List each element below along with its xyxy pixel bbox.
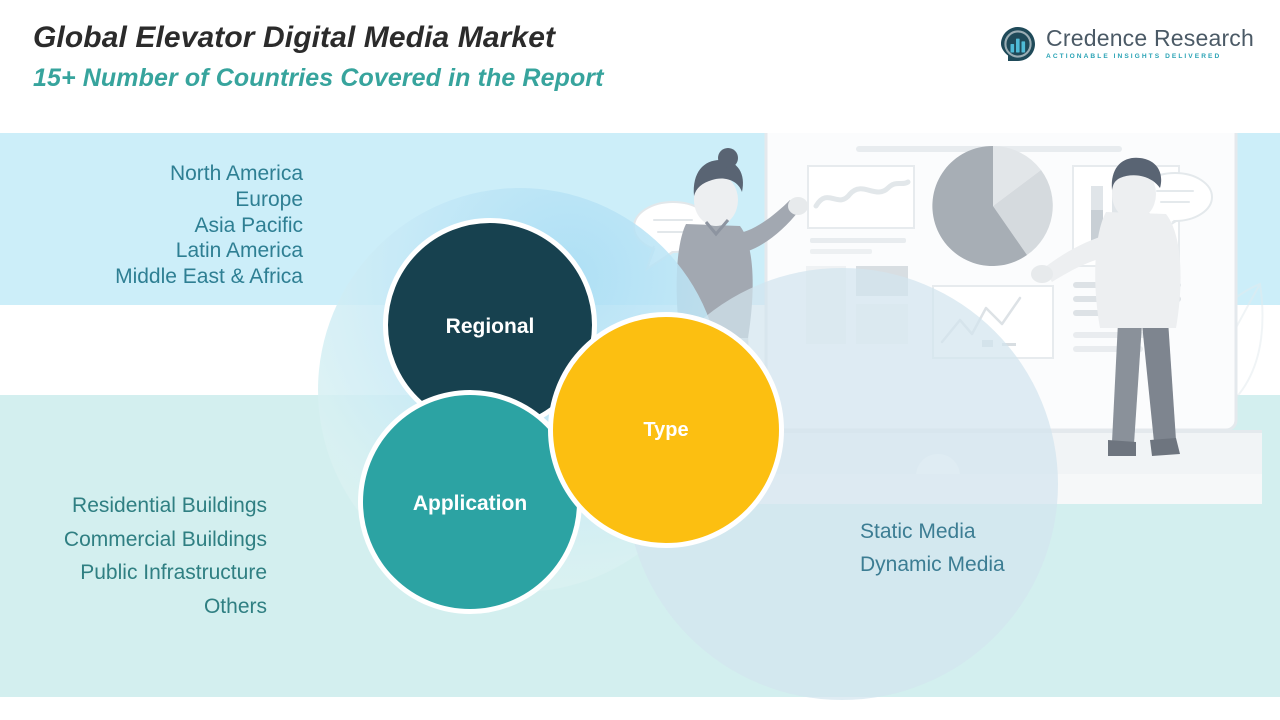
list-item: Commercial Buildings — [0, 523, 267, 557]
list-item: Residential Buildings — [0, 489, 267, 523]
logo-tagline: Actionable Insights Delivered — [1046, 54, 1254, 61]
application-list: Residential Buildings Commercial Buildin… — [0, 489, 267, 623]
list-item: North America — [0, 161, 303, 187]
list-item: Latin America — [0, 238, 303, 264]
segment-circle-regional-label: Regional — [446, 315, 535, 339]
header: Global Elevator Digital Media Market 15+… — [0, 0, 1280, 133]
list-item: Asia Pacific — [0, 213, 303, 239]
segment-circle-type[interactable]: Type — [548, 312, 784, 548]
segment-circle-type-label: Type — [643, 419, 688, 442]
bar-chart-bubble-icon — [999, 25, 1037, 63]
list-item: Europe — [0, 187, 303, 213]
brand-logo: Credence Research Actionable Insights De… — [999, 25, 1254, 63]
list-item: Public Infrastructure — [0, 556, 267, 590]
logo-text: Credence Research Actionable Insights De… — [1046, 27, 1254, 61]
logo-name: Credence Research — [1046, 27, 1254, 50]
infographic-slide: Global Elevator Digital Media Market 15+… — [0, 0, 1280, 720]
regional-list: North America Europe Asia Pacific Latin … — [0, 161, 303, 290]
type-list: Static Media Dynamic Media — [860, 515, 1005, 581]
list-item: Others — [0, 590, 267, 624]
list-item: Dynamic Media — [860, 548, 1005, 581]
segment-circle-application-label: Application — [413, 492, 527, 516]
list-item: Static Media — [860, 515, 1005, 548]
page-subtitle: 15+ Number of Countries Covered in the R… — [33, 64, 604, 93]
list-item: Middle East & Africa — [0, 264, 303, 290]
page-title: Global Elevator Digital Media Market — [33, 21, 555, 55]
